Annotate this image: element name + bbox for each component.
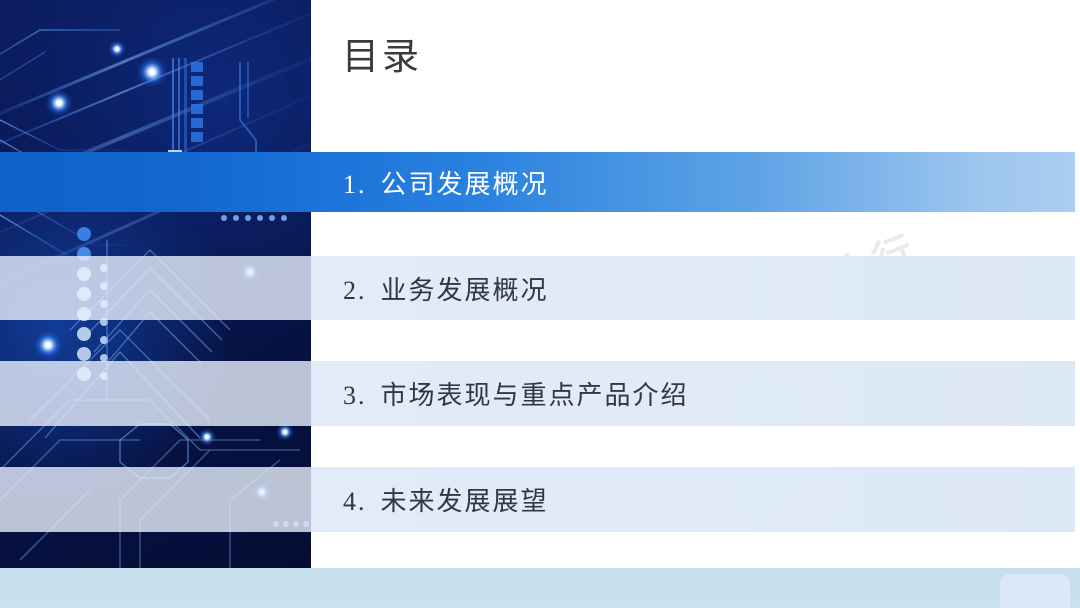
page-title: 目录 — [342, 36, 422, 80]
slide-canvas: 目录 三人行 1.公司发展概况 2.业务发展概况 3.市场表现与重点产品介绍 4… — [0, 0, 1080, 608]
footer-strip — [0, 568, 1080, 608]
toc-item-4-number: 4. — [343, 487, 367, 516]
toc-item-1-number: 1. — [343, 170, 367, 199]
toc-item-3[interactable]: 3.市场表现与重点产品介绍 — [311, 361, 1075, 426]
toc-item-2-label: 业务发展概况 — [381, 276, 549, 305]
toc-item-3-label: 市场表现与重点产品介绍 — [381, 381, 689, 410]
footer-accent-shape — [1000, 574, 1070, 608]
toc-item-2[interactable]: 2.业务发展概况 — [311, 256, 1075, 320]
toc-item-1[interactable]: 1.公司发展概况 — [311, 152, 1075, 212]
toc-item-2-text: 2.业务发展概况 — [311, 270, 549, 307]
toc-item-3-text: 3.市场表现与重点产品介绍 — [311, 375, 689, 412]
toc-item-4-label: 未来发展展望 — [381, 487, 549, 516]
toc-item-2-number: 2. — [343, 276, 367, 305]
circuit-tech-graphic — [0, 0, 311, 568]
toc-item-1-text: 1.公司发展概况 — [311, 164, 549, 201]
slide-content: 目录 三人行 1.公司发展概况 2.业务发展概况 3.市场表现与重点产品介绍 4… — [311, 0, 1080, 568]
toc-item-3-number: 3. — [343, 381, 367, 410]
toc-item-1-label: 公司发展概况 — [381, 170, 549, 199]
toc-item-4[interactable]: 4.未来发展展望 — [311, 467, 1075, 532]
toc-item-4-text: 4.未来发展展望 — [311, 481, 549, 518]
